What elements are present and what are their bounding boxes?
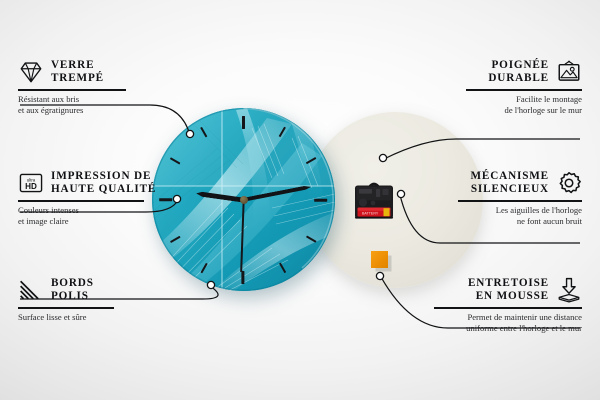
feature-title: VERRE TREMPÉ (51, 59, 104, 85)
feature-header: BORDS POLIS (18, 277, 114, 303)
feature-subtitle-line1: Résistant aux bris (18, 94, 126, 105)
feature-subtitle-line2: et aux égratignures (18, 105, 126, 116)
feature-title: ENTRETOISE EN MOUSSE (468, 277, 549, 303)
feature-divider (18, 200, 144, 201)
feature-impression-haute-qualite: ultraHD IMPRESSION DE HAUTE QUALITÉ Coul… (18, 170, 144, 226)
feature-subtitle-line1: Permet de maintenir une distance (434, 312, 582, 323)
feature-header: VERRE TREMPÉ (18, 59, 126, 85)
feature-bords-polis: BORDS POLIS Surface lisse et sûre (18, 277, 114, 323)
feature-subtitle-line1: Couleurs intenses (18, 205, 144, 216)
feature-header: POIGNÉE DURABLE (466, 59, 582, 85)
clock-center-cap (240, 196, 248, 204)
svg-text:BATTERY: BATTERY (362, 211, 379, 215)
feature-header: ENTRETOISE EN MOUSSE (434, 277, 582, 303)
clock-face (152, 108, 335, 291)
feature-poignee-durable: POIGNÉE DURABLE Facilite le montage de l… (466, 59, 582, 115)
feature-header: ultraHD IMPRESSION DE HAUTE QUALITÉ (18, 170, 144, 196)
feature-divider (434, 307, 582, 308)
feature-subtitle-line2: ne font aucun bruit (458, 216, 582, 227)
polished-edges-icon (18, 277, 44, 303)
picture-hanger-icon (556, 59, 582, 85)
feature-title: BORDS POLIS (51, 277, 94, 303)
feature-divider (18, 89, 126, 90)
feature-subtitle-line2: de l'horloge sur le mur (466, 105, 582, 116)
feature-divider (458, 200, 582, 201)
clock-tick-12 (242, 116, 244, 200)
ultra-hd-icon: ultraHD (18, 170, 44, 196)
feature-subtitle-line2: et image claire (18, 216, 144, 227)
feature-divider (466, 89, 582, 90)
feature-subtitle-line1: Facilite le montage (466, 94, 582, 105)
feature-title: IMPRESSION DE HAUTE QUALITÉ (51, 170, 156, 196)
foam-spacer-icon (556, 277, 582, 303)
feature-subtitle-line1: Surface lisse et sûre (18, 312, 114, 323)
feature-mecanisme-silencieux: MÉCANISME SILENCIEUX Les aiguilles de l'… (458, 170, 582, 226)
feature-header: MÉCANISME SILENCIEUX (458, 170, 582, 196)
feature-title: MÉCANISME SILENCIEUX (470, 170, 549, 196)
feature-title: POIGNÉE DURABLE (488, 59, 549, 85)
feature-entretoise-en-mousse: ENTRETOISE EN MOUSSE Permet de maintenir… (434, 277, 582, 333)
clock-mechanism: BATTERY (350, 177, 398, 225)
diamond-icon (18, 59, 44, 85)
gear-icon (556, 170, 582, 196)
foam-spacer (371, 251, 388, 268)
svg-text:HD: HD (25, 182, 37, 191)
feature-subtitle-line1: Les aiguilles de l'horloge (458, 205, 582, 216)
feature-subtitle-line2: uniforme entre l'horloge et le mur (434, 323, 582, 334)
feature-verre-trempe: VERRE TREMPÉ Résistant aux bris et aux é… (18, 59, 126, 115)
feature-divider (18, 307, 114, 308)
